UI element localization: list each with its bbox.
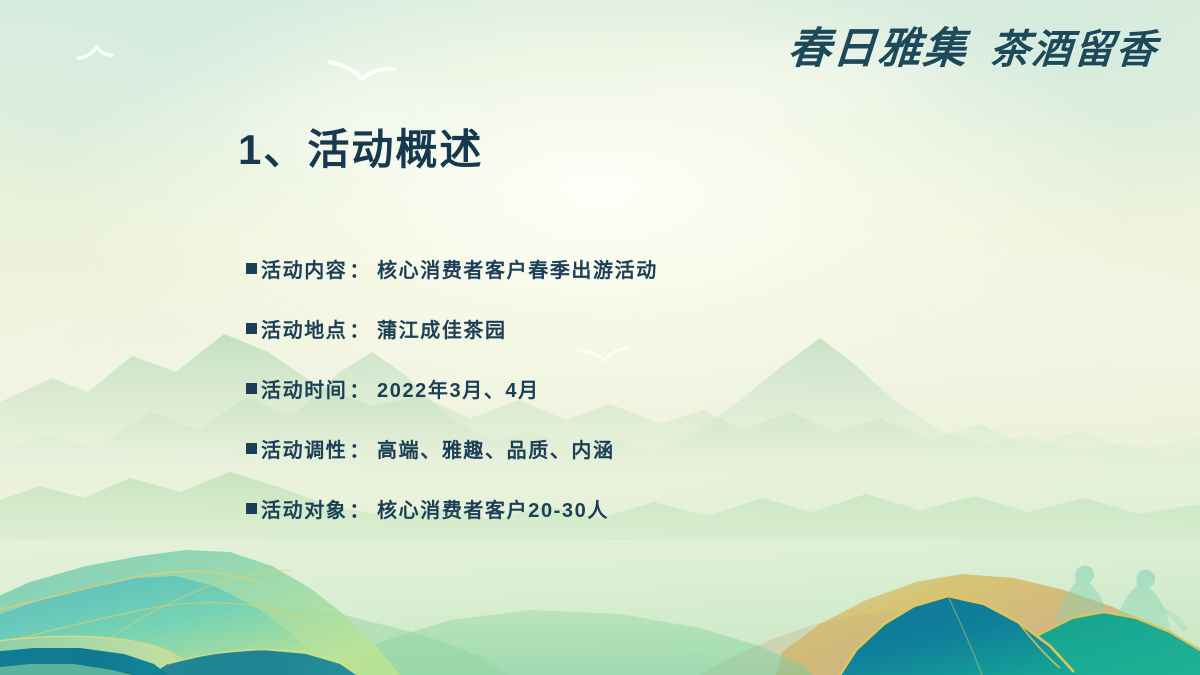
bullet-separator: ：: [349, 314, 371, 343]
bullet-value: 核心消费者客户春季出游活动: [377, 254, 658, 283]
bullet-value: 核心消费者客户20-30人: [377, 494, 609, 523]
bullet-value: 高端、雅趣、品质、内涵: [377, 434, 615, 463]
bullet-label: 活动对象: [261, 494, 347, 523]
list-item: 活动地点 ： 蒲江成佳茶园: [246, 298, 1106, 358]
list-item: 活动时间 ： 2022年3月、4月: [246, 358, 1106, 418]
brand-logo-part-1: 春日雅集: [786, 28, 969, 71]
bird-top-left: [78, 47, 112, 58]
square-bullet-icon: [246, 443, 257, 454]
bullet-label: 活动时间: [261, 374, 347, 403]
square-bullet-icon: [246, 263, 257, 274]
square-bullet-icon: [246, 323, 257, 334]
bullet-label: 活动调性: [261, 434, 347, 463]
bullet-separator: ：: [349, 434, 371, 463]
square-bullet-icon: [246, 383, 257, 394]
overview-bullet-list: 活动内容 ： 核心消费者客户春季出游活动 活动地点 ： 蒲江成佳茶园 活动时间 …: [246, 238, 1106, 538]
bullet-value: 2022年3月、4月: [377, 374, 540, 403]
list-item: 活动对象 ： 核心消费者客户20-30人: [246, 478, 1106, 538]
bird-top-center: [330, 62, 394, 79]
bullet-separator: ：: [349, 494, 371, 523]
slide-canvas: 春日雅集 茶酒留香 1、活动概述 活动内容 ： 核心消费者客户春季出游活动 活动…: [0, 0, 1200, 675]
list-item: 活动内容 ： 核心消费者客户春季出游活动: [246, 238, 1106, 298]
bullet-separator: ：: [349, 254, 371, 283]
brand-logo-part-2: 茶酒留香: [989, 30, 1160, 70]
brand-logo: 春日雅集 茶酒留香: [786, 28, 1159, 71]
list-item: 活动调性 ： 高端、雅趣、品质、内涵: [246, 418, 1106, 478]
page-title: 1、活动概述: [238, 125, 483, 175]
square-bullet-icon: [246, 503, 257, 514]
bullet-value: 蒲江成佳茶园: [377, 314, 507, 343]
bullet-label: 活动内容: [261, 254, 347, 283]
bullet-label: 活动地点: [261, 314, 347, 343]
bullet-separator: ：: [349, 374, 371, 403]
